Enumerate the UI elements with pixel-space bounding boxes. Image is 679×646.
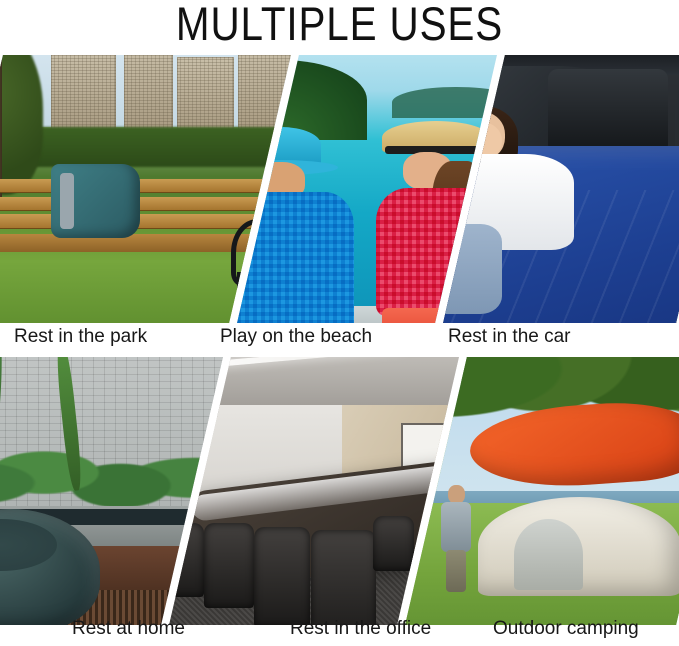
caption-rest-in-the-office: Rest in the office — [290, 618, 431, 640]
caption-rest-in-the-car: Rest in the car — [448, 326, 571, 348]
image-row-1 — [0, 55, 679, 323]
caption-outdoor-camping: Outdoor camping — [493, 618, 639, 640]
page-title: MULTIPLE USES — [48, 0, 632, 50]
caption-play-on-the-beach: Play on the beach — [220, 326, 372, 348]
caption-rest-in-the-park: Rest in the park — [14, 326, 147, 348]
poster-root: MULTIPLE USES — [0, 0, 679, 646]
image-row-2 — [0, 357, 679, 625]
caption-rest-at-home: Rest at home — [72, 618, 185, 640]
